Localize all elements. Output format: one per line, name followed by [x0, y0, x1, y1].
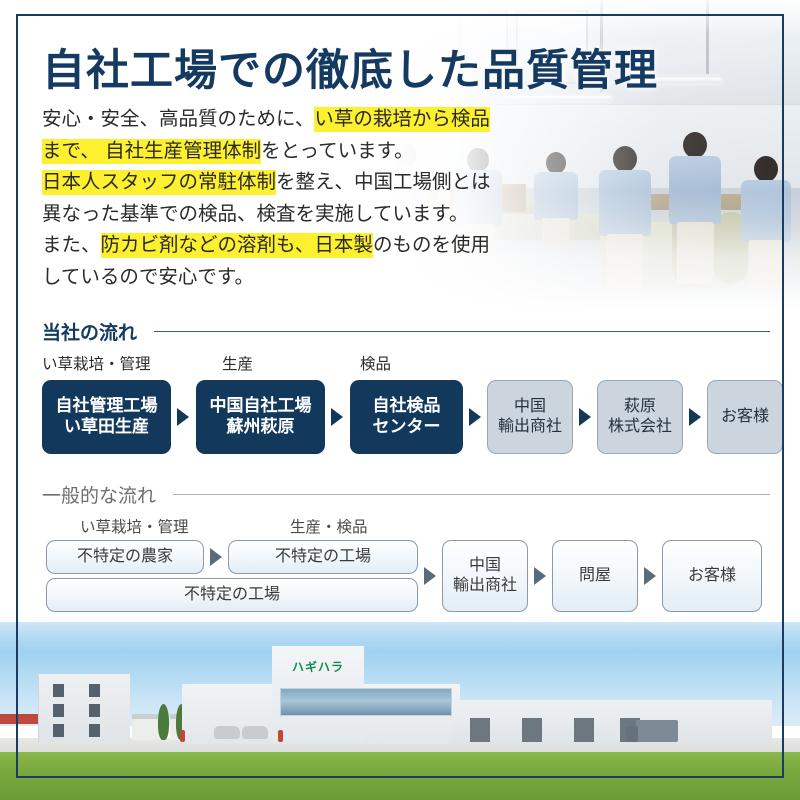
own-flow-box-3-line1: 自社検品: [373, 396, 441, 417]
own-flow-arrow-3: [469, 408, 481, 426]
general-flow-arrow-1: [210, 548, 222, 566]
own-flow-box-4-line1: 中国: [498, 397, 562, 417]
lead-line-6-plain: しているので安心です。: [42, 266, 254, 288]
general-caption-production: 生産・検品: [290, 515, 368, 537]
own-flow-box-4[interactable]: 中国 輸出商社: [487, 380, 573, 454]
general-flow-box-exporter-line1: 中国: [453, 556, 517, 576]
general-flow-arrow-4: [644, 567, 656, 585]
own-flow-arrow-1: [177, 408, 189, 426]
general-flow-box-wholesaler-label: 問屋: [579, 566, 611, 586]
own-flow-box-2[interactable]: 中国自社工場 蘇州萩原: [196, 380, 325, 454]
infographic-page: ハギハラ 自社工場での徹底した品質管理 安心・安全、高品質のために、い草の栽培か…: [0, 0, 800, 800]
own-caption-production: 生産: [222, 352, 253, 374]
lead-line-5-highlight: 防カビ剤などの溶剤も、日本製: [101, 233, 373, 258]
own-flow-box-5-line2: 株式会社: [608, 417, 672, 437]
lead-line-6: しているので安心です。: [42, 262, 562, 294]
own-flow-arrow-2: [331, 408, 343, 426]
lead-line-3-plain: を整え、中国工場側とは: [276, 171, 491, 193]
general-flow-box-factory-top-label: 不特定の工場: [275, 547, 371, 567]
own-flow-box-2-line1: 中国自社工場: [210, 396, 312, 417]
lead-line-5-plain-a: また、: [42, 234, 101, 256]
own-flow-heading: 当社の流れ: [42, 318, 137, 345]
lead-line-2-plain: をとっています。: [261, 140, 414, 162]
own-flow-box-6[interactable]: お客様: [707, 380, 783, 454]
lead-line-3: 日本人スタッフの常駐体制を整え、中国工場側とは: [42, 167, 562, 199]
lead-line-1: 安心・安全、高品質のために、い草の栽培から検品: [42, 104, 562, 136]
general-flow-box-factory-wide[interactable]: 不特定の工場: [46, 578, 418, 612]
lead-paragraph: 安心・安全、高品質のために、い草の栽培から検品 まで、 自社生産管理体制をとって…: [42, 104, 562, 293]
own-flow-box-4-line2: 輸出商社: [498, 417, 562, 437]
lead-line-3-highlight: 日本人スタッフの常駐体制: [42, 170, 276, 195]
lead-line-5-plain-b: のものを使用: [373, 234, 490, 256]
lead-line-4-plain: 異なった基準での検品、検査を実施しています。: [42, 203, 468, 225]
own-flow-box-3-line2: センター: [373, 417, 441, 438]
general-flow-arrow-3: [534, 567, 546, 585]
own-flow-box-3[interactable]: 自社検品 センター: [350, 380, 463, 454]
general-flow-box-factory-wide-label: 不特定の工場: [184, 585, 280, 605]
own-flow-box-5-line1: 萩原: [608, 397, 672, 417]
own-caption-cultivation: い草栽培・管理: [42, 352, 151, 374]
general-flow-box-exporter-line2: 輸出商社: [453, 576, 517, 596]
general-flow-heading: 一般的な流れ: [42, 481, 156, 508]
general-flow-divider-line: [173, 494, 770, 495]
general-flow-box-farm[interactable]: 不特定の農家: [46, 540, 204, 574]
own-flow-box-1-line2: い草田生産: [56, 417, 158, 438]
own-flow-arrow-5: [689, 408, 701, 426]
own-flow-box-1-line1: 自社管理工場: [56, 396, 158, 417]
page-title: 自社工場での徹底した品質管理: [42, 36, 658, 98]
lead-line-2-highlight: まで、 自社生産管理体制: [42, 139, 261, 164]
lead-line-4: 異なった基準での検品、検査を実施しています。: [42, 199, 562, 231]
own-flow-box-1[interactable]: 自社管理工場 い草田生産: [42, 380, 171, 454]
general-flow-arrow-2: [424, 567, 436, 585]
own-caption-inspection: 検品: [360, 352, 391, 374]
general-flow-box-wholesaler[interactable]: 問屋: [552, 540, 638, 612]
lead-line-1-highlight: い草の栽培から検品: [314, 107, 490, 132]
general-flow-box-factory-top[interactable]: 不特定の工場: [228, 540, 418, 574]
own-flow-arrow-4: [579, 408, 591, 426]
own-flow-divider-line: [154, 331, 770, 332]
general-caption-cultivation: い草栽培・管理: [80, 515, 189, 537]
lead-line-1-plain: 安心・安全、高品質のために、: [42, 108, 314, 130]
general-flow-box-farm-label: 不特定の農家: [77, 547, 173, 567]
own-flow-box-5[interactable]: 萩原 株式会社: [597, 380, 683, 454]
lead-line-2: まで、 自社生産管理体制をとっています。: [42, 136, 562, 168]
general-flow-box-exporter[interactable]: 中国 輸出商社: [442, 540, 528, 612]
general-flow-section-header: 一般的な流れ: [42, 481, 770, 508]
general-flow-box-customer[interactable]: お客様: [662, 540, 762, 612]
own-flow-box-6-line1: お客様: [721, 407, 769, 427]
general-flow-box-customer-label: お客様: [688, 566, 736, 586]
own-flow-section-header: 当社の流れ: [42, 318, 770, 345]
own-flow-box-2-line2: 蘇州萩原: [210, 417, 312, 438]
lead-line-5: また、防カビ剤などの溶剤も、日本製のものを使用: [42, 230, 562, 262]
